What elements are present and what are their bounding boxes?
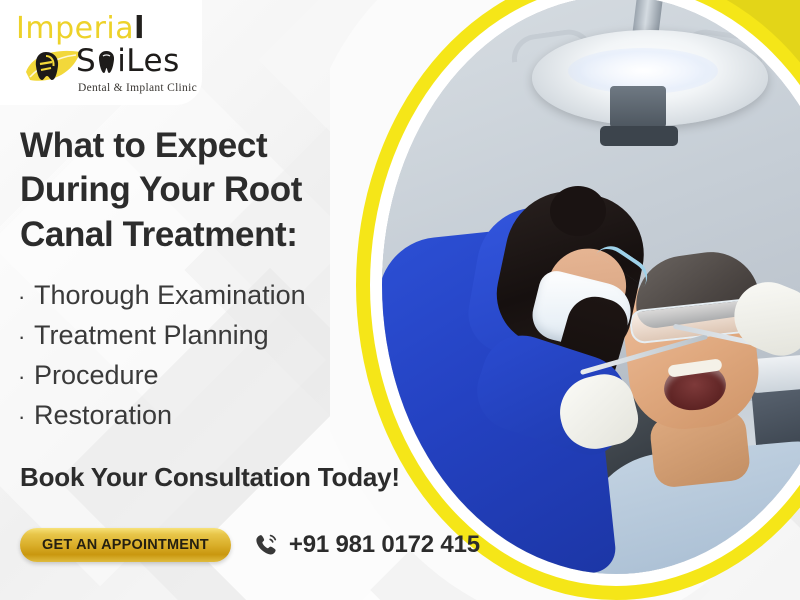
get-an-appointment-button[interactable]: GET AN APPOINTMENT [20, 528, 231, 562]
dentist-hair-bun [550, 186, 606, 236]
logo-l-text: l [134, 11, 145, 46]
bullet-marker: · [18, 281, 34, 314]
headline-line-1: What to Expect [20, 124, 400, 168]
logo-wordmark-imperial: Imperial [16, 14, 145, 44]
leaf-icon [24, 46, 82, 84]
list-item-label: Procedure [34, 360, 159, 390]
photo-disc [382, 0, 800, 574]
headline-line-3: Canal Treatment: [20, 213, 400, 257]
logo-iles-text: iLes [117, 43, 180, 79]
list-item: ·Restoration [18, 396, 418, 436]
tooth-icon [97, 50, 116, 75]
cta-headline: Book Your Consultation Today! [20, 462, 400, 493]
list-item: ·Treatment Planning [18, 316, 418, 356]
list-item: ·Procedure [18, 356, 418, 396]
list-item-label: Thorough Examination [34, 280, 306, 310]
bullet-marker: · [18, 361, 34, 394]
dental-lamp-foot [600, 126, 678, 146]
list-item: ·Thorough Examination [18, 276, 418, 316]
bullet-marker: · [18, 401, 34, 434]
dental-ad-poster: Imperial SiLes Dental & Implant Clinic W… [0, 0, 800, 600]
logo-tagline: Dental & Implant Clinic [78, 82, 197, 94]
bullet-marker: · [18, 321, 34, 354]
brand-logo: Imperial SiLes Dental & Implant Clinic [0, 0, 202, 105]
page-title: What to Expect During Your Root Canal Tr… [20, 124, 400, 257]
list-item-label: Treatment Planning [34, 320, 269, 350]
contact-action-row: GET AN APPOINTMENT +91 981 0172 415 [20, 528, 480, 562]
logo-wordmark-smiles: SiLes [76, 46, 180, 77]
phone-icon [253, 532, 279, 558]
logo-imperia-text: Imperia [16, 11, 134, 46]
dental-lamp-core [610, 86, 666, 128]
list-item-label: Restoration [34, 400, 172, 430]
headline-line-2: During Your Root [20, 168, 400, 212]
phone-number[interactable]: +91 981 0172 415 [289, 531, 480, 559]
treatment-steps-list: ·Thorough Examination ·Treatment Plannin… [18, 276, 418, 436]
logo-s-text: S [76, 43, 96, 79]
